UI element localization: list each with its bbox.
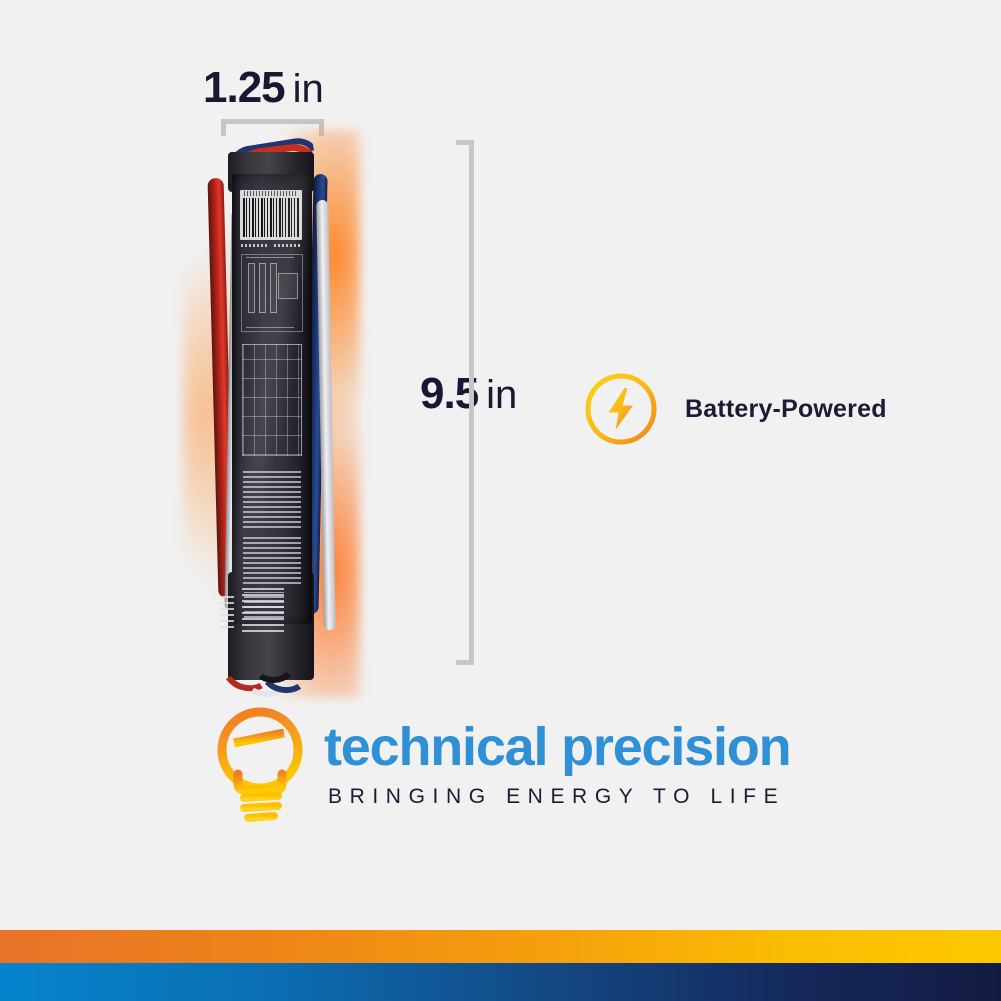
end-cap-printed-code (220, 592, 234, 628)
end-cap-printed-text (242, 588, 284, 632)
casing-highlight (232, 174, 312, 624)
feature-badge: Battery-Powered (583, 365, 953, 453)
footer-band-orange (0, 930, 1001, 963)
width-value: 1.25 (203, 63, 285, 112)
width-unit: in (293, 67, 324, 111)
feature-label: Battery-Powered (685, 395, 887, 424)
logo-wordmark: technical precision BRINGING ENERGY TO L… (324, 720, 790, 809)
product-marketing-canvas: 1.25in 9.5in (0, 0, 1001, 1001)
product-image (206, 140, 336, 685)
ballast-casing (232, 174, 312, 624)
brand-logo: technical precision BRINGING ENERGY TO L… (208, 700, 808, 828)
lightbulb-t-icon (208, 702, 312, 826)
vertical-dimension-bracket-icon (456, 140, 474, 665)
height-unit: in (486, 373, 517, 417)
footer-band-blue (0, 963, 1001, 1001)
width-dimension-label: 1.25in (203, 66, 324, 110)
lightning-bolt-circle-icon (583, 371, 659, 447)
brand-name: technical precision (324, 720, 790, 774)
brand-tagline: BRINGING ENERGY TO LIFE (328, 785, 790, 809)
